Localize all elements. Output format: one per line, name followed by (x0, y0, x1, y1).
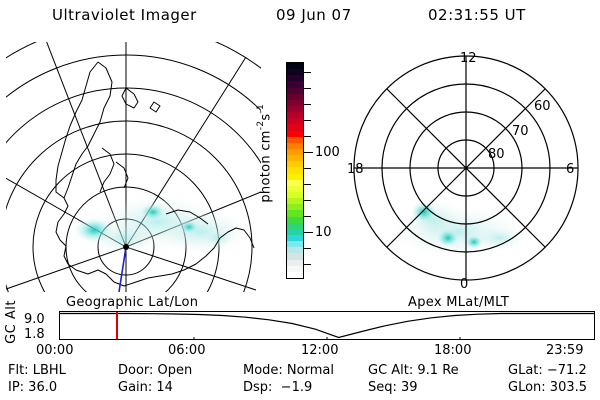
colorbar-major-tick (304, 232, 313, 233)
footer-gc-alt: GC Alt: 9.1 Re (368, 362, 508, 379)
colorbar-minor-tick (304, 72, 311, 73)
footer-filter: Flt: LBHL (8, 362, 118, 379)
footer-dsp: Dsp: −1.9 (243, 379, 368, 396)
colorbar-gradient (287, 63, 303, 278)
instrument-title: Ultraviolet Imager (52, 6, 197, 24)
mlt-label-18: 18 (347, 162, 364, 177)
apex-dial-svg: 12 6 0 18 60 70 80 (338, 42, 596, 294)
orbit-tick-marks (194, 337, 460, 339)
colorbar (286, 62, 304, 279)
footer-ip: IP: 36.0 (8, 379, 118, 396)
orbit-curve-svg (60, 312, 594, 339)
time-tick-0600: 06:00 (168, 343, 205, 358)
colorbar-unit-main: photon cm (258, 130, 273, 202)
coastlines (56, 62, 254, 286)
status-footer: Flt: LBHL Door: Open Mode: Normal GC Alt… (8, 362, 592, 396)
footer-seq: Seq: 39 (368, 379, 508, 396)
geographic-panel-title: Geographic Lat/Lon (66, 295, 198, 310)
geographic-map-panel (6, 42, 261, 292)
colorbar-minor-tick (304, 200, 311, 201)
colorbar-minor-tick (304, 248, 311, 249)
time-tick-0000: 00:00 (36, 343, 73, 358)
observation-date: 09 Jun 07 (276, 6, 352, 24)
mlt-spokes (354, 56, 578, 280)
colorbar-unit-sup1: -2 (256, 121, 266, 131)
south-pole-marker (123, 244, 129, 250)
mlat-label-60: 60 (534, 99, 551, 114)
time-tick-1200: 12:00 (301, 343, 338, 358)
mlt-label-6: 6 (566, 162, 574, 177)
orbit-axis-name: GC Alt (4, 300, 19, 344)
footer-glon: GLon: 303.5 (508, 379, 587, 396)
latitude-circles (6, 42, 261, 292)
colorbar-minor-tick (304, 216, 311, 217)
mlat-label-70: 70 (512, 124, 529, 139)
geographic-map-svg (6, 42, 261, 292)
mlt-label-0: 0 (460, 277, 468, 292)
colorbar-axis-label: photon cm-2s-1 (256, 104, 273, 203)
mlat-label-80: 80 (488, 147, 505, 162)
footer-door: Door: Open (118, 362, 243, 379)
apex-panel-title: Apex MLat/MLT (408, 295, 509, 310)
colorbar-major-tick (304, 152, 313, 153)
time-tick-1800: 18:00 (434, 343, 471, 358)
colorbar-tick-label-10: 10 (315, 226, 332, 239)
aurora-emission-geographic (74, 196, 250, 254)
orbit-ymax-label: 9.0 (24, 312, 45, 327)
aurora-emission-apex (390, 200, 526, 258)
colorbar-minor-tick (304, 184, 311, 185)
colorbar-minor-tick (304, 120, 311, 121)
colorbar-tick-label-100: 100 (315, 146, 340, 159)
colorbar-unit-sup2: -1 (256, 104, 266, 114)
orbit-time-cursor[interactable] (116, 312, 118, 339)
footer-mode: Mode: Normal (243, 362, 368, 379)
colorbar-minor-tick (304, 264, 311, 265)
footer-row-1: Flt: LBHL Door: Open Mode: Normal GC Alt… (8, 362, 592, 379)
colorbar-minor-tick (304, 168, 311, 169)
time-tick-2359: 23:59 (546, 343, 583, 358)
mlt-label-12: 12 (460, 51, 477, 66)
orbit-curve (60, 314, 594, 338)
footer-row-2: IP: 36.0 Gain: 14 Dsp: −1.9 Seq: 39 GLon… (8, 379, 592, 396)
observation-time: 02:31:55 UT (428, 6, 526, 24)
colorbar-minor-tick (304, 88, 311, 89)
colorbar-minor-tick (304, 136, 311, 137)
footer-glat: GLat: −71.2 (508, 362, 587, 379)
footer-gain: Gain: 14 (118, 379, 243, 396)
orbit-altitude-plot[interactable] (59, 311, 595, 340)
orbit-ymin-label: 1.8 (24, 327, 45, 342)
apex-dial-panel: 12 6 0 18 60 70 80 (338, 42, 596, 294)
colorbar-minor-tick (304, 104, 311, 105)
colorbar-unit-mid: s (258, 114, 273, 121)
